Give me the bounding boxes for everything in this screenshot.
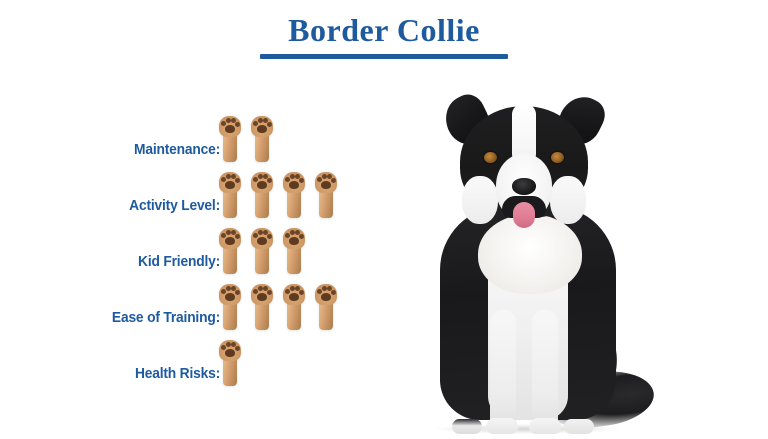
paw-toe-4: [267, 122, 272, 127]
dog-paw-icon: [250, 116, 274, 162]
dog-paw-icon: [250, 172, 274, 218]
rating-row-kid-friendly: Kid Friendly:: [0, 220, 400, 276]
paw-pad-center: [257, 237, 267, 245]
rating-row-activity-level: Activity Level:: [0, 164, 400, 220]
paw-pad-area: [283, 172, 305, 193]
paw-toe-4: [331, 178, 336, 183]
paw-toe-1: [253, 121, 258, 126]
title-underline-rule: [260, 54, 508, 59]
dog-eye-right: [551, 152, 564, 163]
paw-pad-center: [289, 293, 299, 301]
dog-paw-icon: [250, 284, 274, 330]
paw-pad-area: [315, 284, 337, 305]
dog-head: [456, 102, 592, 226]
rating-label-health-risks: Health Risks:: [18, 365, 220, 382]
paw-toe-1: [253, 177, 258, 182]
rating-paws-ease-of-training: [218, 284, 338, 330]
dog-paw-icon: [250, 228, 274, 274]
dog-front-foot-left: [486, 418, 518, 434]
paw-toe-2: [322, 174, 327, 179]
paw-pad-area: [251, 116, 273, 137]
ratings-list: Maintenance:: [0, 108, 400, 388]
rating-paws-maintenance: [218, 116, 274, 162]
paw-pad-area: [219, 172, 241, 193]
paw-toe-4: [235, 178, 240, 183]
title-block: Border Collie: [0, 10, 768, 59]
paw-pad-center: [225, 237, 235, 245]
paw-toe-1: [221, 233, 226, 238]
paw-pad-center: [257, 125, 267, 133]
paw-toe-1: [317, 177, 322, 182]
dog-paw-icon: [282, 228, 306, 274]
paw-toe-2: [290, 174, 295, 179]
paw-pad-area: [219, 284, 241, 305]
rating-label-activity-level: Activity Level:: [18, 197, 220, 214]
paw-toe-1: [221, 177, 226, 182]
paw-pad-area: [219, 116, 241, 137]
paw-pad-area: [219, 228, 241, 249]
paw-pad-area: [283, 228, 305, 249]
paw-pad-center: [321, 293, 331, 301]
rating-row-ease-of-training: Ease of Training:: [0, 276, 400, 332]
paw-toe-4: [267, 290, 272, 295]
paw-pad-area: [219, 340, 241, 361]
paw-toe-4: [235, 234, 240, 239]
paw-pad-center: [289, 181, 299, 189]
rating-label-maintenance: Maintenance:: [18, 141, 220, 158]
rating-paws-kid-friendly: [218, 228, 306, 274]
paw-pad-center: [257, 181, 267, 189]
paw-pad-center: [321, 181, 331, 189]
dog-cheek-left: [462, 176, 498, 224]
paw-toe-4: [235, 290, 240, 295]
paw-toe-2: [226, 342, 231, 347]
paw-pad-center: [225, 293, 235, 301]
rating-label-kid-friendly: Kid Friendly:: [18, 253, 220, 270]
paw-toe-4: [267, 234, 272, 239]
dog-paw-icon: [218, 228, 242, 274]
paw-toe-4: [267, 178, 272, 183]
paw-toe-1: [221, 345, 226, 350]
border-collie-photo: [412, 86, 662, 434]
breed-infographic: Border Collie Maintenance:: [0, 0, 768, 439]
paw-toe-1: [285, 233, 290, 238]
dog-hind-foot-left: [452, 419, 482, 434]
paw-toe-4: [299, 234, 304, 239]
paw-toe-2: [258, 230, 263, 235]
paw-toe-2: [290, 230, 295, 235]
paw-pad-center: [225, 349, 235, 357]
paw-pad-area: [251, 228, 273, 249]
paw-pad-center: [225, 181, 235, 189]
dog-paw-icon: [218, 284, 242, 330]
paw-pad-center: [257, 293, 267, 301]
dog-cheek-right: [550, 176, 586, 224]
dog-eye-left: [484, 152, 497, 163]
paw-toe-1: [253, 233, 258, 238]
paw-pad-center: [289, 237, 299, 245]
paw-toe-2: [290, 286, 295, 291]
dog-paw-icon: [218, 172, 242, 218]
paw-toe-2: [226, 118, 231, 123]
paw-toe-1: [317, 289, 322, 294]
paw-pad-area: [283, 284, 305, 305]
rating-row-health-risks: Health Risks:: [0, 332, 400, 388]
paw-toe-2: [226, 230, 231, 235]
rating-paws-activity-level: [218, 172, 338, 218]
rating-row-maintenance: Maintenance:: [0, 108, 400, 164]
paw-toe-2: [258, 286, 263, 291]
paw-toe-1: [253, 289, 258, 294]
paw-toe-4: [235, 122, 240, 127]
paw-toe-1: [285, 177, 290, 182]
paw-toe-2: [322, 286, 327, 291]
dog-front-foot-right: [529, 418, 561, 434]
paw-toe-4: [299, 178, 304, 183]
paw-toe-2: [226, 286, 231, 291]
paw-toe-1: [221, 289, 226, 294]
rating-paws-health-risks: [218, 340, 242, 386]
rating-label-ease-of-training: Ease of Training:: [18, 309, 220, 326]
paw-toe-4: [299, 290, 304, 295]
page-title: Border Collie: [0, 10, 768, 50]
dog-paw-icon: [218, 340, 242, 386]
paw-toe-1: [221, 121, 226, 126]
dog-nose: [512, 178, 536, 195]
dog-paw-icon: [314, 172, 338, 218]
paw-pad-center: [225, 125, 235, 133]
dog-paw-icon: [218, 116, 242, 162]
paw-toe-2: [226, 174, 231, 179]
dog-paw-icon: [282, 284, 306, 330]
paw-toe-4: [235, 346, 240, 351]
dog-hind-foot-right: [564, 419, 594, 434]
dog-paw-icon: [282, 172, 306, 218]
dog-front-leg-left: [490, 310, 516, 430]
paw-toe-4: [331, 290, 336, 295]
paw-toe-2: [258, 174, 263, 179]
dog-paw-icon: [314, 284, 338, 330]
paw-pad-area: [251, 284, 273, 305]
dog-front-leg-right: [532, 310, 558, 430]
paw-pad-area: [315, 172, 337, 193]
paw-toe-2: [258, 118, 263, 123]
paw-pad-area: [251, 172, 273, 193]
paw-toe-1: [285, 289, 290, 294]
dog-tongue: [513, 202, 535, 228]
